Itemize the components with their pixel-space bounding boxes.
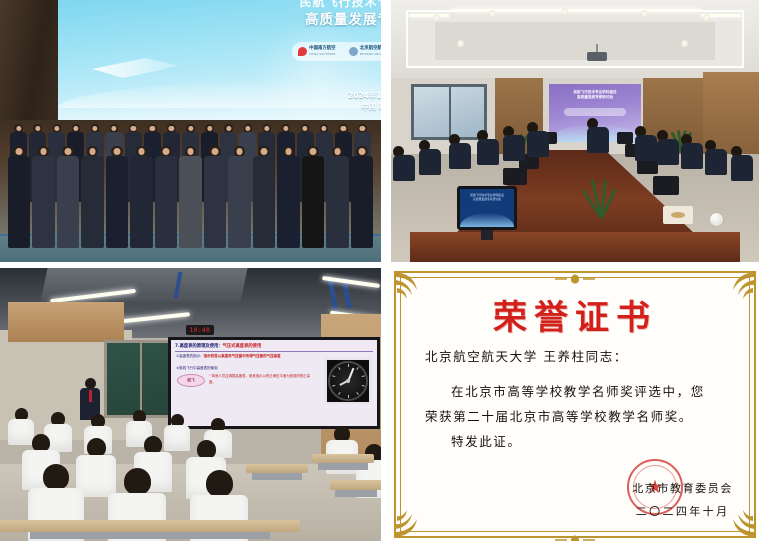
- group-member: [155, 146, 178, 248]
- logo-label-0: 中国南方航空: [309, 46, 335, 51]
- group-member: [204, 146, 227, 248]
- altimeter-dial-icon: [325, 358, 371, 404]
- lecture-slide-display: 7.高度表的原理及使用：气压式高度表的使用 ①高度表的指示：指示的是以高度表气压…: [168, 337, 380, 429]
- attendee-left-3: [449, 134, 471, 169]
- certificate-paragraph-1: 在北京市高等学校教学名师奖评选中，您: [425, 379, 729, 404]
- attendee-right-3: [681, 134, 703, 169]
- table-monitor-4: [503, 168, 527, 185]
- chalkboard-divider: [140, 340, 142, 418]
- logo-sub-0: CHINA SOUTHERN: [309, 53, 335, 56]
- ceiling-coffer-inner: [435, 22, 715, 60]
- meeting-screen-title-line2: 高质量发展专家研讨会: [577, 95, 613, 99]
- foreground-monitor-title: 民航飞行技术专业学科建设 高质量发展专家研讨会: [460, 193, 514, 201]
- clock-time: 10:40: [190, 327, 211, 334]
- digital-clock: 10:40: [186, 325, 214, 335]
- group-member: [106, 146, 129, 248]
- tissue-box: [663, 206, 693, 224]
- group-member: [228, 146, 251, 248]
- group-member: [81, 146, 104, 248]
- auditorium-wall-left: [0, 0, 58, 128]
- screen-title-line2: 高质量发展专家研讨会: [58, 8, 381, 28]
- group-member: [351, 146, 374, 248]
- slide-title-prefix: 7.高度表的原理及使用：: [175, 344, 223, 349]
- slide-rule: [175, 351, 373, 352]
- top-center-ornament: [555, 269, 595, 279]
- slide-line-1-label: ①高度表的指示：: [176, 354, 204, 358]
- group-member: [253, 146, 276, 248]
- attendee-right-4: [657, 130, 679, 165]
- logo-label-1: 北京航空航天大学: [360, 46, 381, 51]
- group-member: [326, 146, 349, 248]
- ceiling-projector-icon: [587, 52, 607, 61]
- kapok-flower-icon: [298, 47, 307, 56]
- table-centerpiece-plant: [583, 158, 617, 218]
- corner-ornament-bottom-left: [393, 505, 427, 539]
- meeting-screen-logo-bar: [564, 108, 627, 116]
- group-row-front: [0, 146, 381, 248]
- group-member: [302, 146, 325, 248]
- slide-title: 7.高度表的原理及使用：气压式高度表的使用: [175, 343, 373, 349]
- slide-title-highlight: 气压式高度表的使用: [223, 344, 262, 349]
- slide-line-2: ②航线飞行中高度表的使用: [176, 366, 218, 371]
- downlight-3: [561, 8, 568, 15]
- meeting-screen-title: 民航飞行技术专业学科建设 高质量发展专家研讨会: [549, 90, 641, 101]
- group-member: [57, 146, 80, 248]
- panel-group-photo[interactable]: 民航飞行技术专业学科建设 高质量发展专家研讨会 中国南方航空 CHINA SOU…: [0, 0, 381, 262]
- panel-honor-certificate[interactable]: 荣誉证书 北京航空航天大学 王养柱同志： 在北京市高等学校教学名师奖评选中，您 …: [391, 268, 759, 541]
- desk-row-right-2: [330, 480, 381, 490]
- downlight-4: [641, 10, 648, 17]
- logo-beihang: 北京航空航天大学 BEIHANG UNIVERSITY: [349, 46, 381, 57]
- attendee-head-of-table: [587, 118, 609, 153]
- attendee-right-1: [731, 146, 753, 181]
- logo-china-southern: 中国南方航空 CHINA SOUTHERN: [298, 46, 335, 57]
- slide-note: " 驾驶人员应调整高度表，使其指示以修正海压平面为基准的修正高度。: [209, 374, 315, 385]
- logo-sub-1: BEIHANG UNIVERSITY: [360, 53, 381, 56]
- slide-line-1: ①高度表的指示：指示的是以高度表气压窗中所调气压面的气压高度: [176, 354, 319, 360]
- table-foreground-edge: [410, 232, 740, 262]
- certificate-signature-block: 北京市教育委员会 二〇二四年十月: [632, 480, 733, 519]
- attendee-left-6: [527, 122, 549, 157]
- certificate-paragraph-3: 特发此证。: [425, 429, 729, 454]
- group-member: [179, 146, 202, 248]
- downlight-5: [703, 14, 710, 21]
- group-member: [130, 146, 153, 248]
- screen-event-meta: 2024年1月26日 中国 珠海: [58, 90, 381, 113]
- slide-stage-bubble: 起飞: [177, 374, 205, 387]
- foreground-monitor-line2: 高质量发展专家研讨会: [473, 197, 501, 201]
- certificate-date: 二〇二四年十月: [632, 503, 733, 519]
- attendee-left-2: [419, 140, 441, 175]
- ceiling-led-strip-left: [409, 14, 449, 17]
- ceiling: [391, 0, 759, 80]
- beihang-crest-icon: [349, 47, 358, 56]
- panel-classroom-lecture[interactable]: 10:40 7.高度表的原理及使用：气压式高度表的使用 ①高度表的指示：指示的是…: [0, 268, 381, 541]
- slide-line-1-text: 指示的是以高度表气压窗中所调气压面的气压高度: [204, 354, 281, 358]
- auditorium-floor: [0, 120, 381, 262]
- table-monitor-8: [653, 176, 679, 195]
- panel-conference-room[interactable]: 民航飞行技术专业学科建设 高质量发展专家研讨会: [391, 0, 759, 262]
- attendee-left-4: [477, 130, 499, 165]
- bottom-center-ornament: [555, 530, 595, 540]
- group-member: [32, 146, 55, 248]
- wall-wood-panel: [8, 302, 124, 342]
- attendee-left-1: [393, 146, 415, 181]
- downlight-1: [433, 14, 440, 21]
- foreground-monitor[interactable]: 民航飞行技术专业学科建设 高质量发展专家研讨会: [457, 186, 517, 230]
- desk-row-front: [0, 520, 300, 532]
- attendee-right-2: [705, 140, 727, 175]
- group-member: [277, 146, 300, 248]
- certificate-salutation: 北京航空航天大学 王养柱同志：: [425, 346, 729, 365]
- monitor-stand: [481, 230, 493, 240]
- desk-row-mid: [246, 464, 308, 473]
- certificate-body: 北京航空航天大学 王养柱同志： 在北京市高等学校教学名师奖评选中，您 荣获第二十…: [425, 346, 729, 454]
- attendee-left-5: [503, 126, 525, 161]
- meeting-screen-title-line1: 民航飞行技术专业学科建设: [573, 90, 616, 94]
- certificate-paragraph-2: 荣获第二十届北京市高等学校教学名师奖。: [425, 404, 729, 429]
- screen-location: 中国 珠海: [361, 102, 381, 111]
- foreground-monitor-wave: [460, 213, 514, 227]
- desk-row-right-1: [312, 454, 374, 463]
- projection-screen: 民航飞行技术专业学科建设 高质量发展专家研讨会 中国南方航空 CHINA SOU…: [58, 0, 381, 120]
- certificate-issuer: 北京市教育委员会: [632, 480, 733, 496]
- screen-date: 2024年1月26日: [348, 91, 381, 100]
- group-member: [8, 146, 31, 248]
- downlight-6: [457, 40, 464, 47]
- tea-cup: [709, 212, 724, 227]
- downlight-7: [681, 40, 688, 47]
- attendee-right-5: [635, 126, 657, 161]
- downlight-2: [489, 10, 496, 17]
- sponsor-logo-bar: 中国南方航空 CHINA SOUTHERN 北京航空航天大学 BEIHANG U…: [292, 42, 382, 61]
- window: [411, 84, 487, 140]
- table-monitor-5: [617, 132, 633, 144]
- certificate-title: 荣誉证书: [391, 290, 759, 339]
- photo-collage: 民航飞行技术专业学科建设 高质量发展专家研讨会 中国南方航空 CHINA SOU…: [0, 0, 759, 541]
